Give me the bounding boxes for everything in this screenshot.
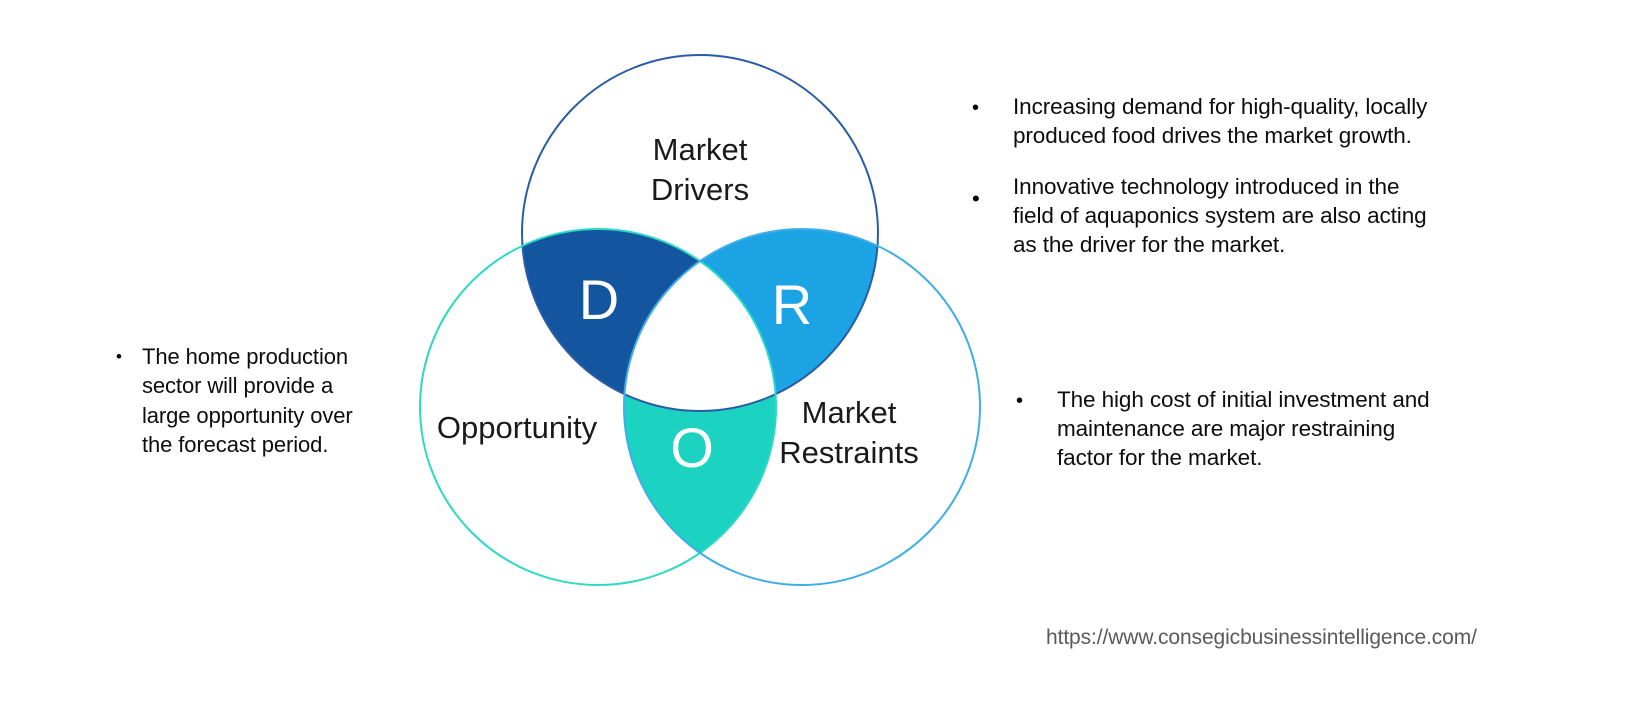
opportunity-callout: • The home production sector will provid… xyxy=(112,342,374,459)
bullet-marker-icon: • xyxy=(968,92,1013,118)
bullet-marker-icon: • xyxy=(1012,385,1057,411)
opportunity-bullet-text: The home production sector will provide … xyxy=(142,342,374,459)
venn-label-restraints-line1: Market xyxy=(802,395,897,430)
venn-label-opportunity: Opportunity xyxy=(437,410,598,445)
list-item: • Increasing demand for high-quality, lo… xyxy=(968,92,1438,150)
venn-label-drivers-line2: Drivers xyxy=(651,172,749,207)
bullet-marker-icon: • xyxy=(112,342,142,365)
restraints-callout: • The high cost of initial investment an… xyxy=(1012,385,1432,472)
restraints-bullet-text: The high cost of initial investment and … xyxy=(1057,385,1432,472)
venn-label-drivers-line1: Market xyxy=(653,132,748,167)
list-item: • The high cost of initial investment an… xyxy=(1012,385,1432,472)
lens-letter-r: R xyxy=(772,273,812,336)
lens-letter-d: D xyxy=(579,268,619,331)
venn-label-restraints-line2: Restraints xyxy=(779,435,919,470)
drivers-bullet-text-1: Increasing demand for high-quality, loca… xyxy=(1013,92,1438,150)
lens-letter-o: O xyxy=(670,416,714,479)
bullet-marker-icon: • xyxy=(968,172,1013,210)
drivers-callout: • Increasing demand for high-quality, lo… xyxy=(968,92,1438,259)
list-item: • Innovative technology introduced in th… xyxy=(968,172,1438,259)
venn-svg: Market Drivers Opportunity Market Restra… xyxy=(380,30,1020,610)
source-url[interactable]: https://www.consegicbusinessintelligence… xyxy=(1046,626,1477,650)
venn-diagram: Market Drivers Opportunity Market Restra… xyxy=(380,30,1020,610)
drivers-bullet-text-2: Innovative technology introduced in the … xyxy=(1013,172,1438,259)
infographic-canvas: Market Drivers Opportunity Market Restra… xyxy=(0,0,1641,708)
list-item: • The home production sector will provid… xyxy=(112,342,374,459)
